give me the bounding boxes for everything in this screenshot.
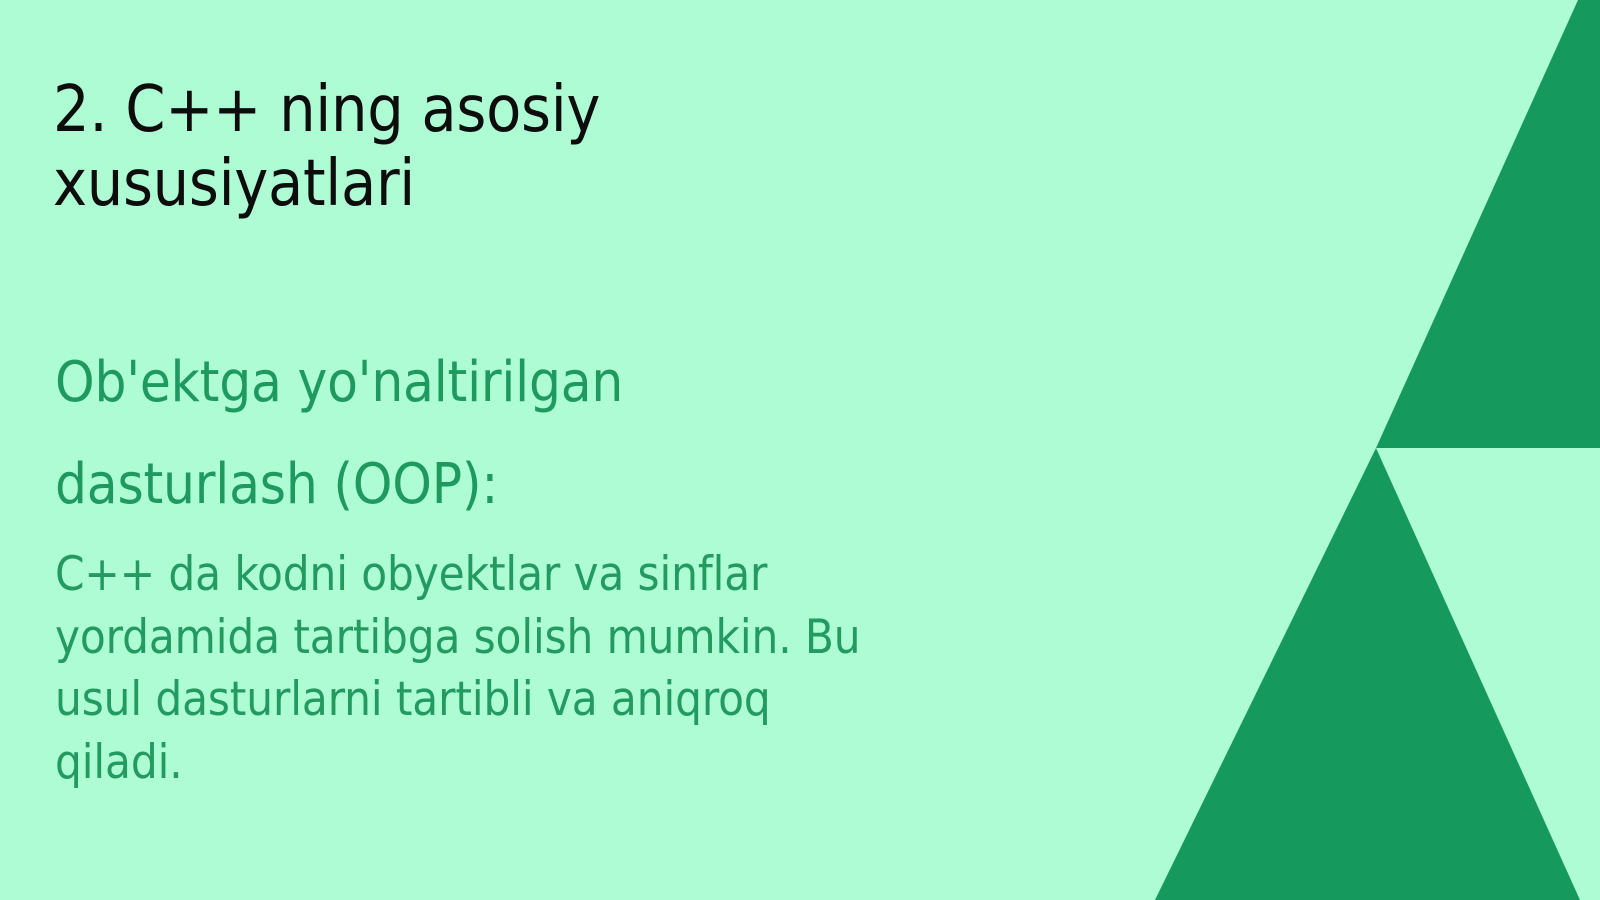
section-subheading: Ob'ektga yo'naltirilgan dasturlash (OOP)… <box>55 332 915 536</box>
slide-title: 2. C++ ning asosiy xususiyatlari <box>53 73 853 221</box>
text-column: 2. C++ ning asosiy xususiyatlari Ob'ektg… <box>53 0 1253 900</box>
body-paragraph: C++ da kodni obyektlar va sinflar yordam… <box>55 544 1295 794</box>
upper-right-triangle-shape <box>1376 0 1600 448</box>
slide-canvas: 2. C++ ning asosiy xususiyatlari Ob'ektg… <box>0 0 1600 900</box>
